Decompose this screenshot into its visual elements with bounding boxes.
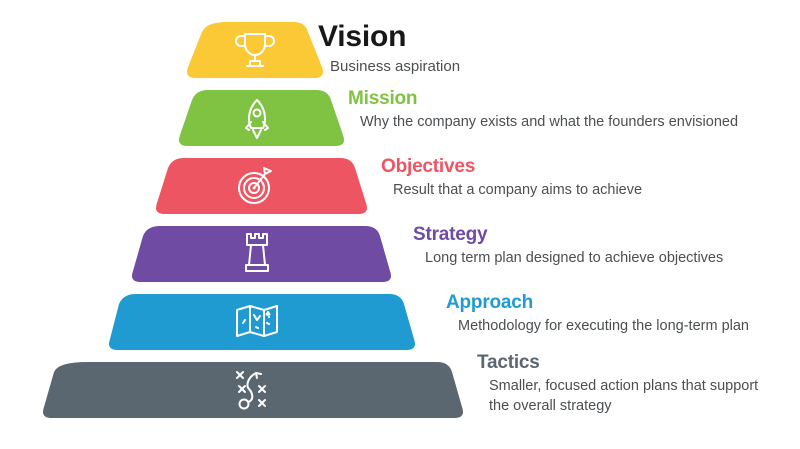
title-approach: Approach [446,292,776,313]
pyramid-bands [0,0,800,449]
band-objectives[interactable] [156,158,367,214]
title-strategy: Strategy [413,224,743,245]
trophy-icon [233,30,277,72]
description-vision: Business aspiration [318,57,618,78]
description-approach: Methodology for executing the long-term … [446,316,776,336]
description-tactics: Smaller, focused action plans that suppo… [477,376,777,416]
label-strategy: Strategy Long term plan designed to achi… [413,224,743,268]
chess-rook-icon [241,231,273,275]
description-objectives: Result that a company aims to achieve [381,180,711,200]
pyramid-diagram: Vision Business aspiration Mission Why t… [0,0,800,449]
description-strategy: Long term plan designed to achieve objec… [413,248,743,268]
band-strategy[interactable] [132,226,391,282]
band-vision[interactable] [187,22,323,78]
playbook-icon [225,366,285,414]
band-tactics[interactable] [43,362,463,418]
description-mission: Why the company exists and what the foun… [348,112,768,132]
title-tactics: Tactics [477,352,777,373]
label-mission: Mission Why the company exists and what … [348,88,768,132]
band-approach[interactable] [109,294,415,350]
label-tactics: Tactics Smaller, focused action plans th… [477,352,777,416]
band-mission[interactable] [179,90,344,146]
title-mission: Mission [348,88,768,109]
title-objectives: Objectives [381,156,711,177]
label-vision: Vision Business aspiration [318,20,618,77]
folded-map-icon [234,303,280,341]
rocket-icon [238,97,276,141]
label-objectives: Objectives Result that a company aims to… [381,156,711,200]
target-arrow-icon [234,163,278,207]
label-approach: Approach Methodology for executing the l… [446,292,776,336]
title-vision: Vision [318,20,618,54]
